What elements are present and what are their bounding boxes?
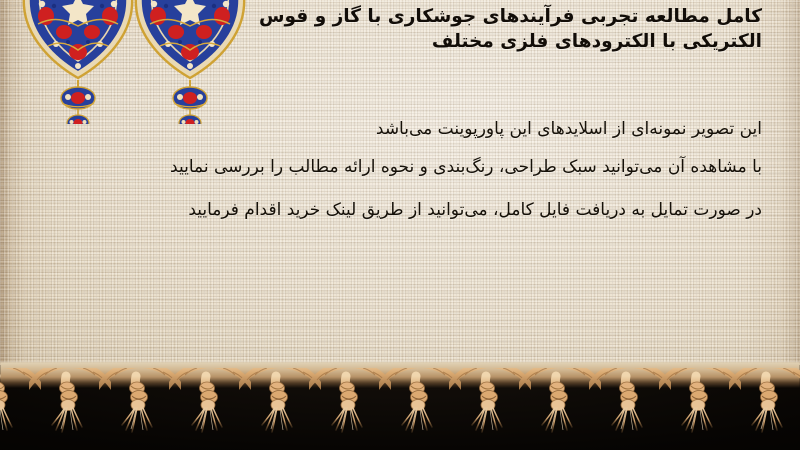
persian-medallion-ornament-left (18, 0, 138, 128)
body-line-1: این تصویر نمونه‌ای از اسلایدهای این پاور… (72, 112, 762, 146)
slide-body-text: این تصویر نمونه‌ای از اسلایدهای این پاور… (72, 112, 762, 232)
slide-title: کامل مطالعه تجربی فرآیندهای جوشکاری با گ… (162, 4, 762, 54)
slide-canvas: کامل مطالعه تجربی فرآیندهای جوشکاری با گ… (0, 0, 800, 450)
body-line-3: در صورت تمایل به دریافت فایل کامل، می‌تو… (72, 189, 762, 232)
slide-title-line-2: الکتریکی با الکترودهای فلزی مختلف (162, 29, 762, 54)
slide-title-line-1: کامل مطالعه تجربی فرآیندهای جوشکاری با گ… (162, 4, 762, 29)
body-line-2: با مشاهده آن می‌توانید سبک طراحی، رنگ‌بن… (72, 146, 762, 189)
knotted-tassel-fringe (0, 368, 800, 438)
